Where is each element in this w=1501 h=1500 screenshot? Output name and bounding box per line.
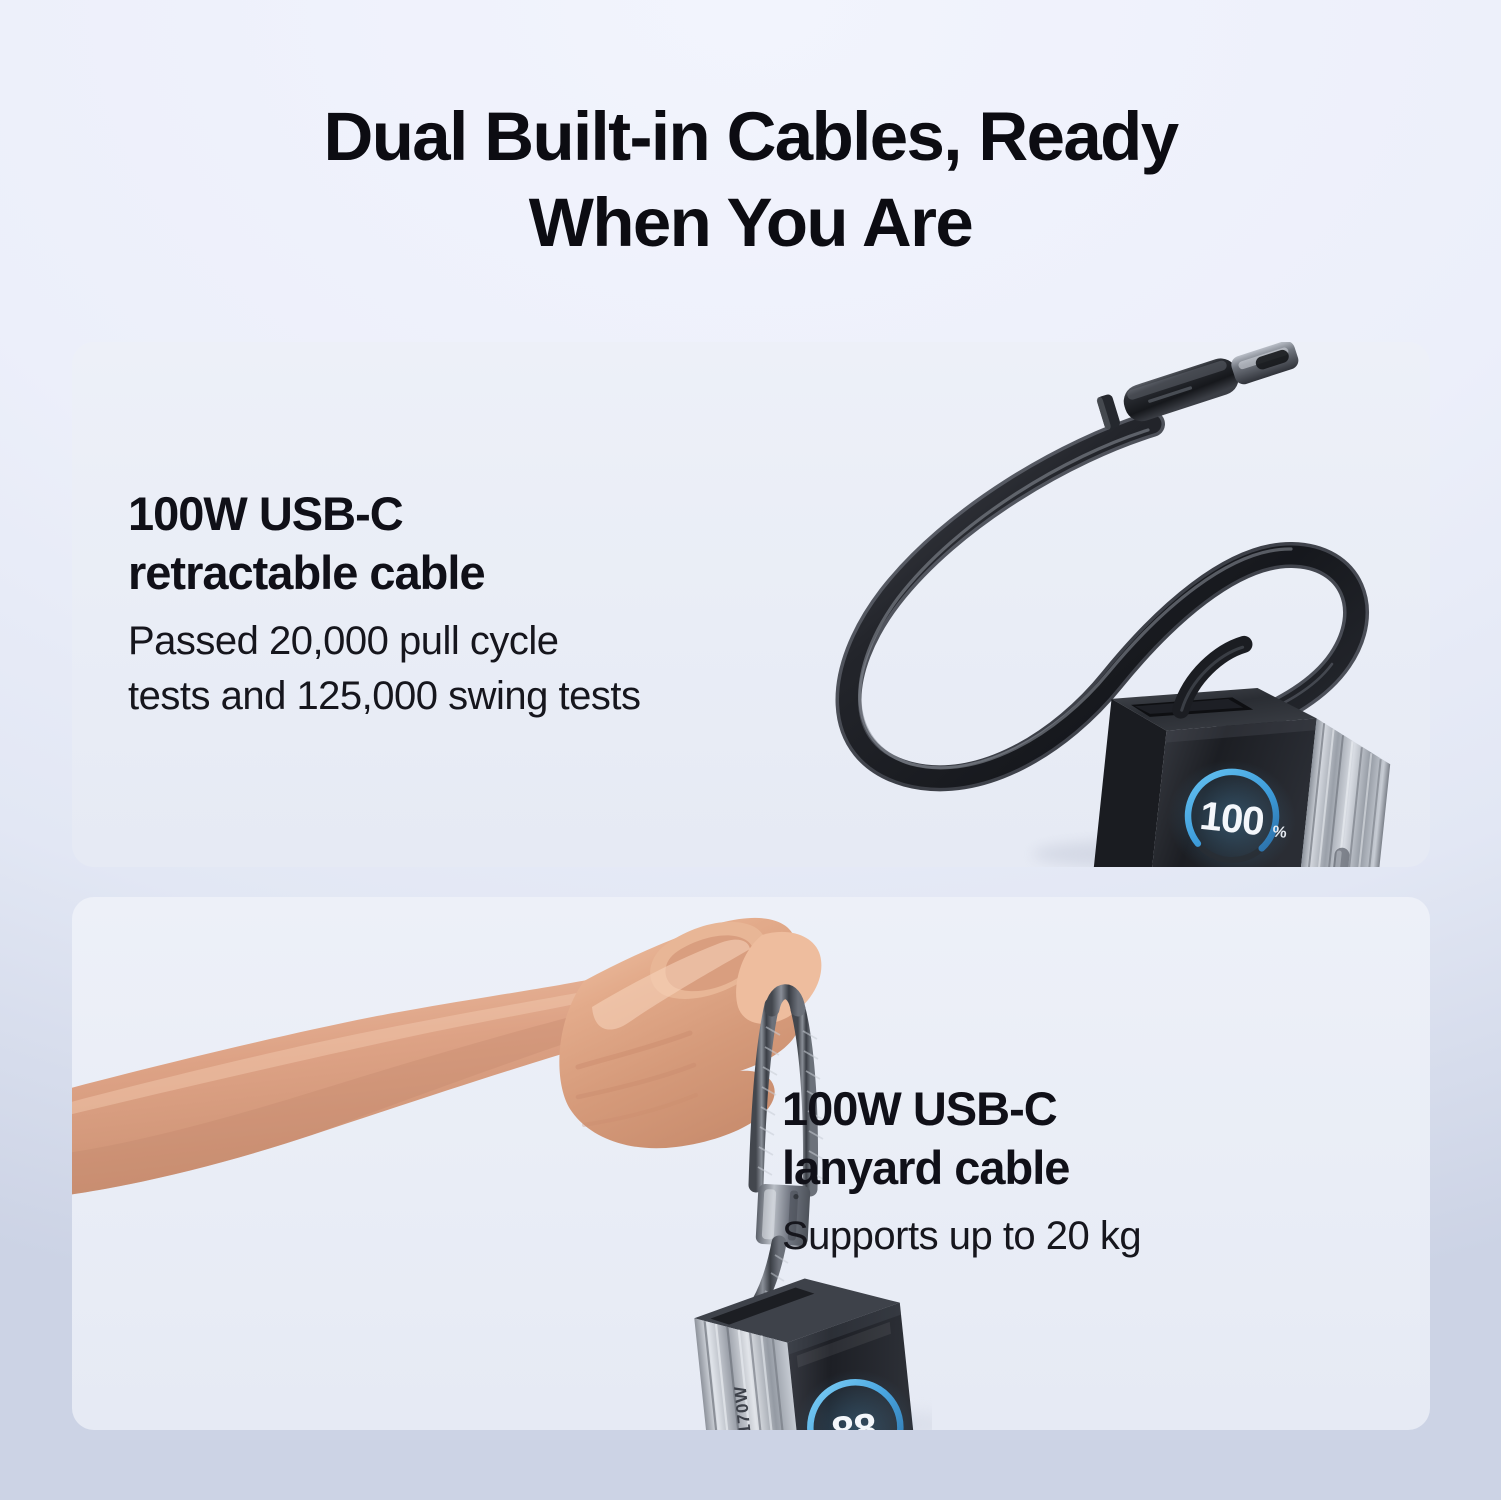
- lanyard-cable-heading-line-1: 100W USB-C: [782, 1079, 1141, 1138]
- page-title-line-2: When You Are: [100, 180, 1401, 266]
- svg-text:%: %: [1272, 823, 1288, 841]
- feature-card-retractable-cable: 100 %: [72, 342, 1430, 867]
- retractable-cable-subtitle-line-2: tests and 125,000 swing tests: [128, 669, 641, 724]
- svg-text:88: 88: [829, 1404, 879, 1430]
- retractable-cable-text-block: 100W USB-C retractable cable Passed 20,0…: [128, 484, 641, 724]
- page-title: Dual Built-in Cables, Ready When You Are: [0, 94, 1501, 265]
- product-feature-page: Dual Built-in Cables, Ready When You Are: [0, 0, 1501, 1500]
- page-title-line-1: Dual Built-in Cables, Ready: [100, 94, 1401, 180]
- lanyard-cable-heading-line-2: lanyard cable: [782, 1138, 1141, 1197]
- retractable-cable-illustration: 100 %: [812, 342, 1430, 867]
- retractable-cable-heading-line-2: retractable cable: [128, 543, 641, 602]
- feature-card-lanyard-cable: 170W 88 %: [72, 897, 1430, 1430]
- lanyard-cable-subtitle-line-1: Supports up to 20 kg: [782, 1209, 1141, 1264]
- svg-text:%: %: [883, 1429, 898, 1430]
- retractable-cable-subtitle-line-1: Passed 20,000 pull cycle: [128, 614, 641, 669]
- retractable-cable-heading-line-1: 100W USB-C: [128, 484, 641, 543]
- svg-text:100: 100: [1198, 794, 1266, 844]
- lanyard-cable-text-block: 100W USB-C lanyard cable Supports up to …: [782, 1079, 1141, 1264]
